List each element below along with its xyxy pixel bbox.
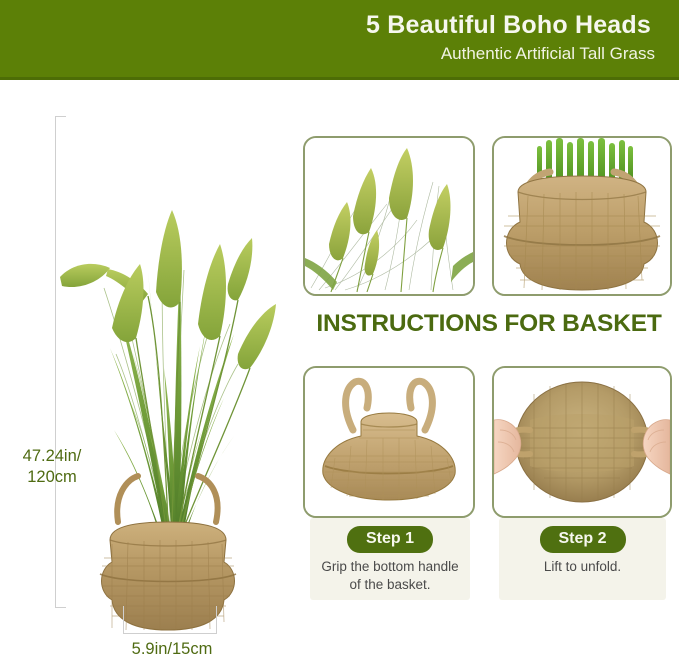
- card-grass-heads-closeup: [303, 136, 475, 296]
- step-2-caption: Lift to unfold.: [505, 558, 660, 576]
- width-dimension-label: 5.9in/15cm: [92, 640, 252, 659]
- height-guide-line: [55, 116, 56, 608]
- banner-subtitle: Authentic Artificial Tall Grass: [441, 43, 661, 65]
- step-2-badge: Step 2: [539, 526, 625, 553]
- step-1-caption-block: Step 1 Grip the bottom handle of the bas…: [310, 518, 470, 600]
- width-guide-bar: [123, 633, 217, 634]
- card-step-1-image: [303, 366, 475, 518]
- step-1-caption: Grip the bottom handle of the basket.: [316, 558, 464, 594]
- card-step-2-image: [492, 366, 672, 518]
- instructions-title: INSTRUCTIONS FOR BASKET: [303, 310, 675, 338]
- product-hero-image: [52, 92, 282, 632]
- height-guide-tick-top: [55, 116, 66, 117]
- product-hero-panel: 47.24in/ 120cm 5.9in/15cm: [0, 84, 290, 659]
- step-1-badge: Step 1: [347, 526, 433, 553]
- card-basket-with-grass: [492, 136, 672, 296]
- product-infographic: 5 Beautiful Boho Heads Authentic Artific…: [0, 0, 679, 659]
- width-guide-line-right: [216, 606, 217, 634]
- height-dimension-line1: 47.24in/: [23, 447, 82, 465]
- height-dimension-line2: 120cm: [27, 468, 77, 486]
- banner-title: 5 Beautiful Boho Heads: [366, 12, 661, 38]
- step-2-caption-block: Step 2 Lift to unfold.: [499, 518, 666, 600]
- header-banner: 5 Beautiful Boho Heads Authentic Artific…: [0, 0, 679, 80]
- height-dimension-label: 47.24in/ 120cm: [6, 446, 98, 488]
- width-guide-line-left: [123, 606, 124, 634]
- height-guide-tick-bottom: [55, 607, 66, 608]
